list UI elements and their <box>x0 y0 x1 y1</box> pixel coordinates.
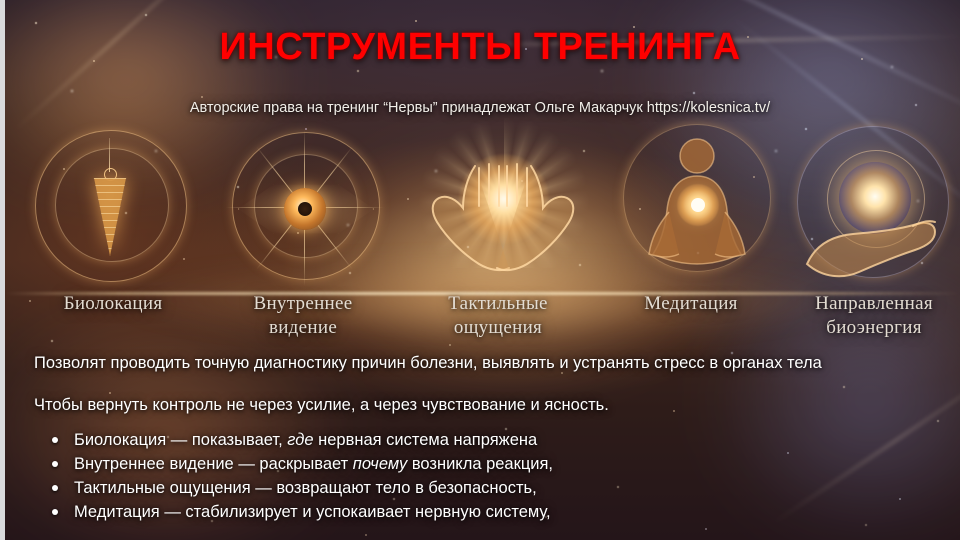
heart-light-core <box>691 198 705 212</box>
copyright-subtitle: Авторские права на тренинг “Нервы” прина… <box>0 100 960 116</box>
bullet-text-post: нервная система напряжена <box>314 431 538 449</box>
figure-labels: Биолокация Внутреннее видение Тактильные… <box>5 292 960 348</box>
bullet-text-emphasis: где <box>287 431 313 449</box>
figure-label-tactile-sensations: Тактильные ощущения <box>403 292 593 340</box>
bullet-text-pre: Медитация — стабилизирует и успокаивает … <box>74 503 551 521</box>
bullet-text-pre: Тактильные ощущения — возвращают тело в … <box>74 479 537 497</box>
cupped-hands-shape <box>417 148 589 274</box>
slide-title: ИНСТРУМЕНТЫ ТРЕНИНГА <box>0 26 960 69</box>
tools-illustration-band <box>5 118 960 298</box>
bullet-text-pre: Внутреннее видение — раскрывает <box>74 455 353 473</box>
pendulum-string <box>109 138 110 172</box>
figure-label-inner-vision: Внутреннее видение <box>213 292 393 340</box>
presentation-slide: Биолокация Внутреннее видение Тактильные… <box>0 0 960 540</box>
starfield-bright <box>5 0 7 2</box>
open-hand-shape <box>801 202 953 284</box>
hand-with-orb-icon <box>787 118 960 298</box>
all-seeing-eye-icon <box>210 118 400 298</box>
pendulum-icon <box>15 118 205 298</box>
figure-label-directed-bioenergy: Направленная биоэнергия <box>781 292 960 340</box>
figure-label-biolocation: Биолокация <box>23 292 203 316</box>
tools-bullet-list: Биолокация — показывает, где нервная сис… <box>34 428 553 524</box>
list-item: Внутреннее видение — раскрывает почему в… <box>74 452 553 476</box>
cupped-hands-icon <box>403 118 603 298</box>
figure-label-meditation: Медитация <box>601 292 781 316</box>
list-item: Биолокация — показывает, где нервная сис… <box>74 428 553 452</box>
bullet-text-emphasis: почему <box>353 455 407 473</box>
bullet-text-pre: Биолокация — показывает, <box>74 431 287 449</box>
bullet-text-post: возникла реакция, <box>407 455 553 473</box>
list-item: Тактильные ощущения — возвращают тело в … <box>74 476 553 500</box>
slide-left-margin <box>0 0 5 540</box>
meditating-figure-icon <box>605 118 785 298</box>
list-item: Медитация — стабилизирует и успокаивает … <box>74 500 553 524</box>
body-paragraph-1: Позволят проводить точную диагностику пр… <box>34 354 822 373</box>
eye-pupil <box>298 202 312 216</box>
body-paragraph-2: Чтобы вернуть контроль не через усилие, … <box>34 396 609 415</box>
